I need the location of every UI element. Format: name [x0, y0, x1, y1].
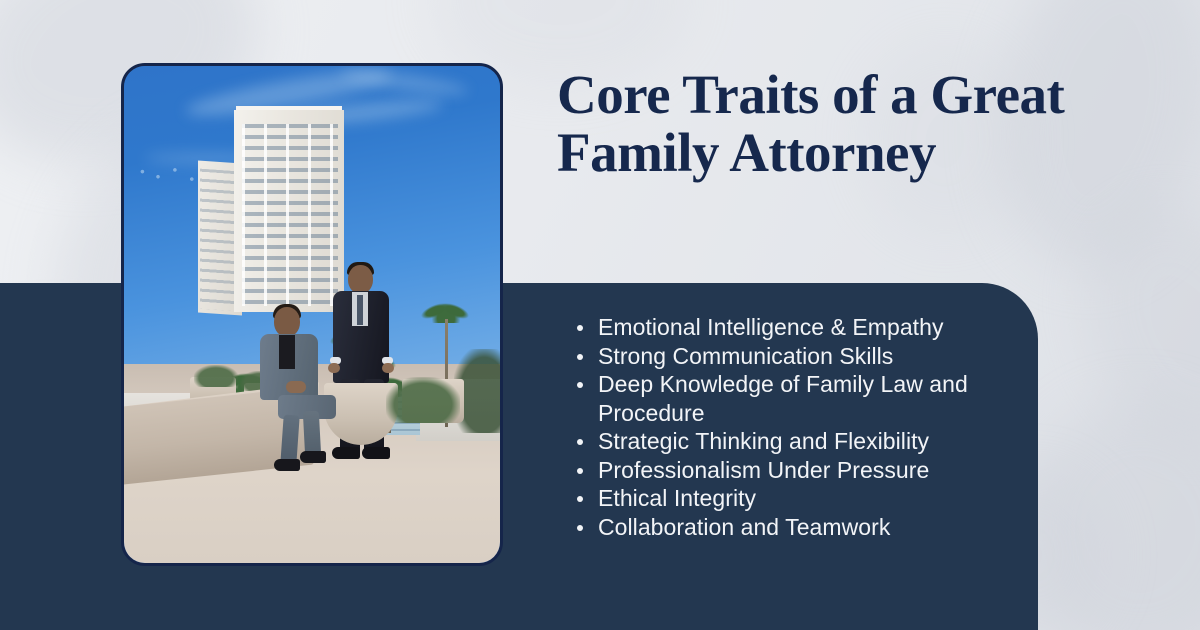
shrub — [386, 377, 460, 423]
photo-scene — [124, 66, 500, 563]
page-title: Core Traits of a Great Family Attorney — [557, 66, 1077, 182]
list-item: Strong Communication Skills — [570, 342, 1010, 371]
graphic-canvas: Core Traits of a Great Family Attorney E… — [0, 0, 1200, 630]
list-item: Collaboration and Teamwork — [570, 513, 1010, 542]
shrub — [194, 365, 238, 387]
list-item: Deep Knowledge of Family Law and Procedu… — [570, 370, 1010, 427]
list-item: Ethical Integrity — [570, 484, 1010, 513]
attorneys-photo — [121, 63, 503, 566]
traits-list: Emotional Intelligence & Empathy Strong … — [570, 313, 1010, 541]
list-item: Strategic Thinking and Flexibility — [570, 427, 1010, 456]
seated-attorney — [252, 307, 338, 475]
list-item: Emotional Intelligence & Empathy — [570, 313, 1010, 342]
list-item: Professionalism Under Pressure — [570, 456, 1010, 485]
